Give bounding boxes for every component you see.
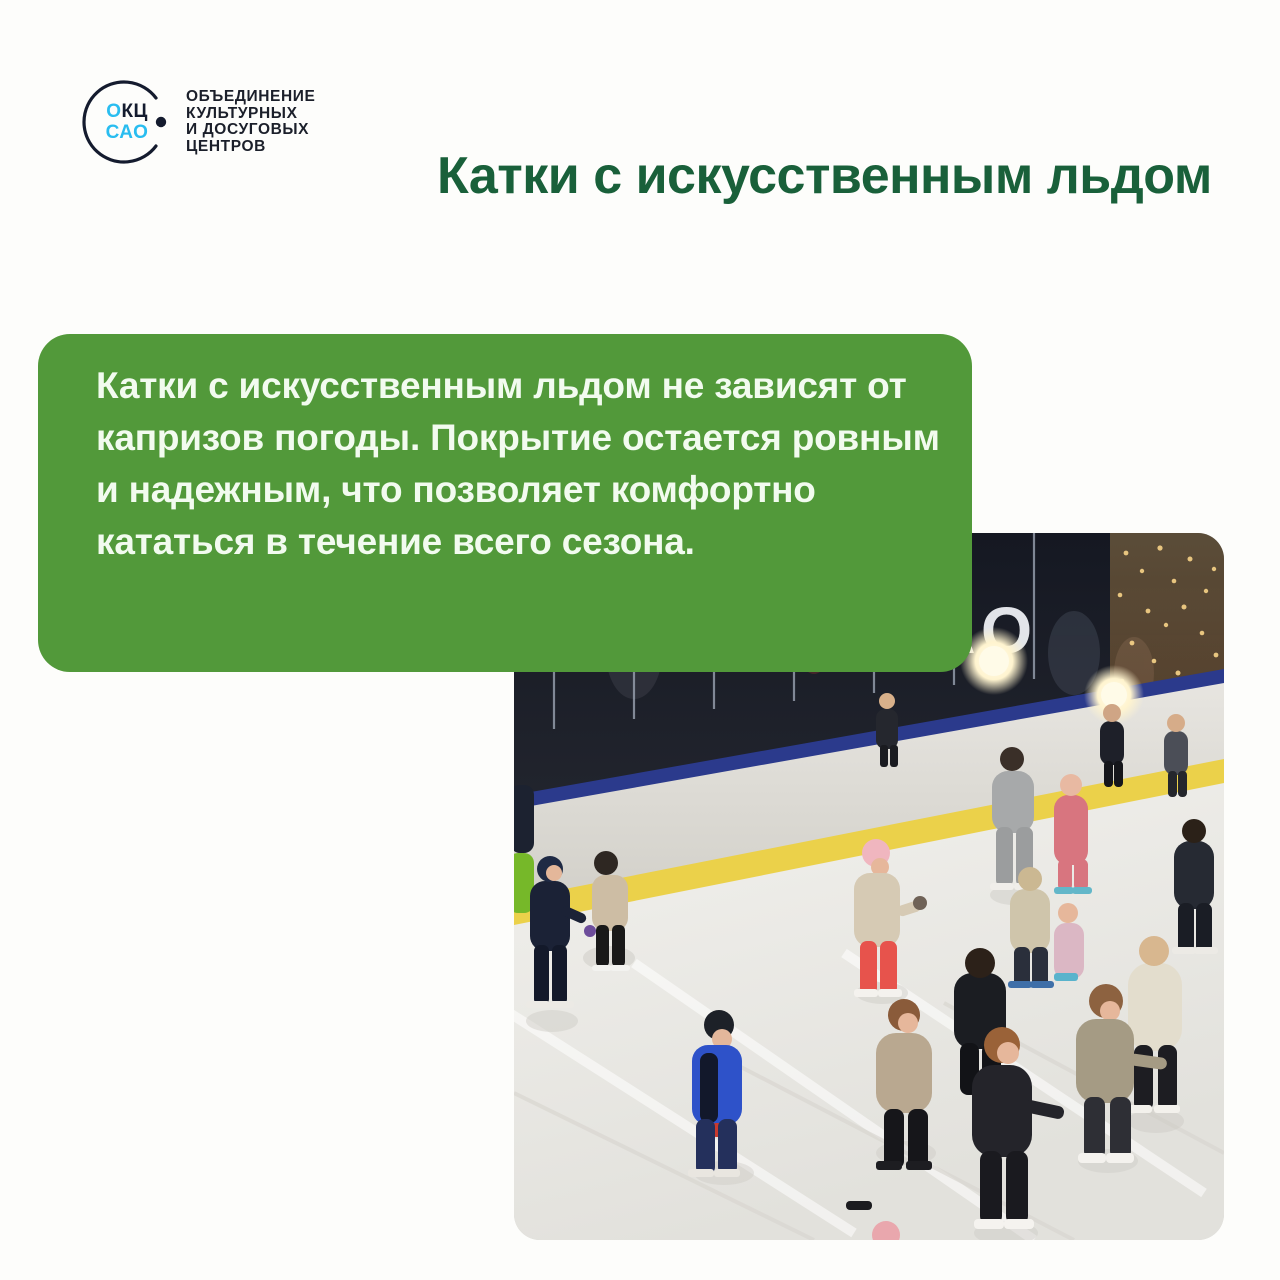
page-title: Катки с искусственным льдом bbox=[437, 142, 1227, 210]
poster-root: ОКЦ САО ОБЪЕДИНЕНИЕ КУЛЬТУРНЫХ И ДОСУГОВ… bbox=[0, 0, 1280, 1280]
logo-mono-sao: САО bbox=[94, 122, 160, 143]
logo-mono-o: О bbox=[106, 101, 121, 122]
info-card-text: Катки с искусственным льдом не зависят о… bbox=[96, 360, 944, 568]
org-name-line-2: КУЛЬТУРНЫХ bbox=[186, 106, 315, 123]
okc-sao-circle-logo: ОКЦ САО bbox=[78, 74, 174, 170]
org-name-line-4: ЦЕНТРОВ bbox=[186, 139, 315, 156]
org-name: ОБЪЕДИНЕНИЕ КУЛЬТУРНЫХ И ДОСУГОВЫХ ЦЕНТР… bbox=[186, 89, 315, 155]
brand-logo: ОКЦ САО ОБЪЕДИНЕНИЕ КУЛЬТУРНЫХ И ДОСУГОВ… bbox=[78, 74, 315, 170]
org-name-line-3: И ДОСУГОВЫХ bbox=[186, 122, 315, 139]
info-card: Катки с искусственным льдом не зависят о… bbox=[38, 334, 972, 672]
logo-mono-kc: КЦ bbox=[121, 101, 147, 122]
logo-monogram: ОКЦ САО bbox=[94, 101, 160, 143]
skater bbox=[846, 1201, 872, 1210]
org-name-line-1: ОБЪЕДИНЕНИЕ bbox=[186, 89, 315, 106]
